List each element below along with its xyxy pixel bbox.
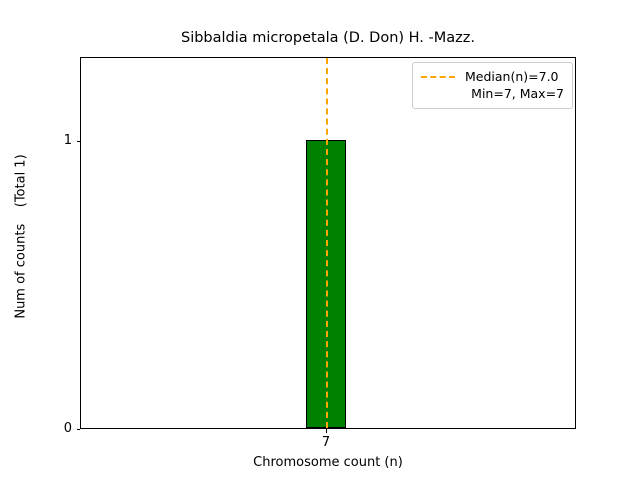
legend-entry-median: Median(n)=7.0	[420, 68, 565, 85]
y-axis-label-container: Num of counts (Total 1)	[0, 0, 46, 480]
x-axis-label: Chromosome count (n)	[80, 455, 576, 470]
xtick-mark-7	[326, 429, 327, 433]
y-axis-label: Num of counts (Total 1)	[13, 51, 30, 423]
plot-area	[80, 57, 576, 429]
chart-figure: Sibbaldia micropetala (D. Don) H. -Mazz.…	[0, 0, 640, 480]
legend: Median(n)=7.0 Min=7, Max=7	[412, 62, 573, 109]
xtick-label-7: 7	[306, 436, 346, 450]
legend-label-range: Min=7, Max=7	[420, 85, 565, 102]
ytick-label-1: 1	[56, 134, 72, 147]
page-title: Sibbaldia micropetala (D. Don) H. -Mazz.	[80, 29, 576, 47]
ytick-mark-0	[77, 429, 81, 430]
ytick-label-0: 0	[56, 422, 72, 435]
legend-label-median: Median(n)=7.0	[465, 68, 559, 85]
dashed-line-icon	[420, 71, 456, 83]
median-line	[326, 58, 328, 428]
ytick-mark-1	[77, 141, 81, 142]
